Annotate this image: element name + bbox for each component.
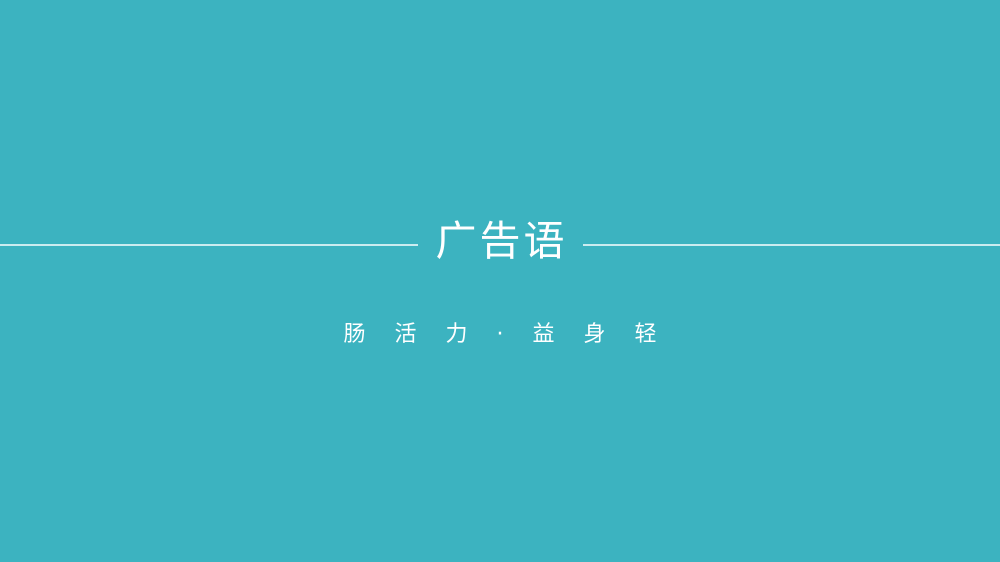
slide-canvas: 广告语 肠 活 力 · 益 身 轻 — [0, 0, 1000, 562]
subtitle-container: 肠 活 力 · 益 身 轻 — [0, 320, 1000, 351]
slide-title: 广告语 — [433, 214, 568, 269]
title-container: 广告语 — [0, 214, 1000, 269]
divider-line-right — [583, 244, 1000, 246]
divider-line-left — [0, 244, 418, 246]
slide-subtitle: 肠 活 力 · 益 身 轻 — [333, 320, 668, 351]
